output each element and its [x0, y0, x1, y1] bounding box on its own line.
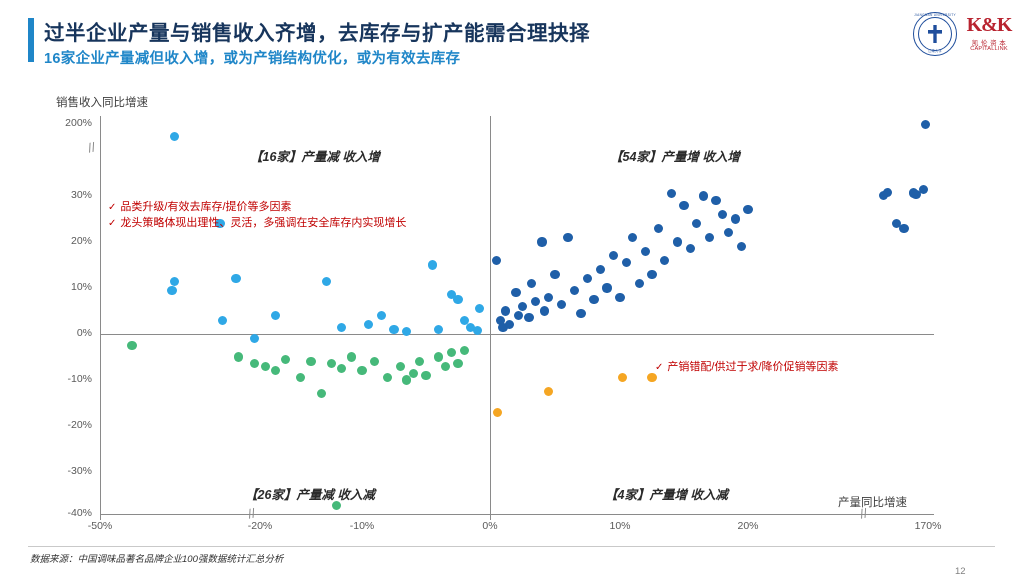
data-point	[337, 364, 346, 373]
note-lower-right: ✓产销错配/供过于求/降价促销等因素	[655, 358, 839, 374]
data-point	[531, 297, 540, 306]
check-icon: ✓	[108, 202, 116, 213]
data-point	[317, 389, 326, 398]
data-point	[615, 293, 624, 302]
y-tick-label: 10%	[46, 281, 92, 293]
data-point	[524, 313, 533, 322]
data-point	[357, 366, 366, 375]
x-tick-label: -10%	[332, 520, 392, 532]
data-point	[647, 270, 656, 279]
y-tick-label: 0%	[46, 327, 92, 339]
check-icon: ✓	[655, 362, 663, 373]
data-point	[428, 260, 437, 269]
data-point	[596, 265, 605, 274]
quadrant-label-q3: 【26家】产量减 收入减	[245, 484, 375, 503]
data-point	[628, 233, 637, 242]
data-point	[557, 300, 566, 309]
data-point	[337, 323, 346, 332]
x-tick-label: 0%	[460, 520, 520, 532]
x-axis-baseline	[100, 514, 934, 515]
quadrant-label-q2: 【16家】产量减 收入增	[250, 146, 380, 165]
data-point	[231, 274, 240, 283]
data-point	[641, 247, 650, 256]
y-tick-label: -10%	[46, 373, 92, 385]
data-point	[635, 279, 644, 288]
slide-header: 过半企业产量与销售收入齐增，去库存与扩产能需合理抉择 16家企业产量减但收入增，…	[0, 0, 1023, 72]
y-axis-break: //	[87, 139, 97, 155]
title-accent-bar	[28, 18, 34, 62]
data-point	[377, 311, 386, 320]
data-point	[250, 359, 259, 368]
data-point	[919, 185, 928, 194]
data-point	[550, 270, 559, 279]
y-axis-title: 销售收入同比增速	[56, 94, 148, 110]
data-point	[296, 373, 305, 382]
capital-link-logo: K&K CAPITALLINK 凯 伦 资 本	[964, 14, 1014, 60]
data-point	[879, 191, 888, 200]
data-point	[699, 191, 708, 200]
plot-area: //////【16家】产量减 收入增【54家】产量增 收入增【26家】产量减 收…	[100, 116, 938, 522]
x-tick-label: 10%	[590, 520, 650, 532]
data-point	[537, 237, 546, 246]
data-point	[692, 219, 701, 228]
x-axis-line	[100, 334, 934, 335]
data-point	[347, 352, 356, 361]
data-point	[544, 293, 553, 302]
data-point	[527, 279, 536, 288]
x-axis-break-right: //	[859, 505, 869, 521]
page-number: 12	[955, 566, 995, 577]
x-tick-label: 170%	[898, 520, 958, 532]
annotation-text: 产销错配/供过于求/降价促销等因素	[667, 361, 838, 373]
data-point	[271, 366, 280, 375]
x-tick-label: -50%	[70, 520, 130, 532]
data-point	[505, 320, 514, 329]
data-point	[281, 355, 290, 364]
annotation-text: 品类升级/有效去库存/提价等多因素	[120, 201, 291, 213]
data-point	[899, 224, 908, 233]
logo-mark: K&K	[964, 14, 1014, 37]
data-point	[737, 242, 746, 251]
data-point	[383, 373, 392, 382]
page-subtitle: 16家企业产量减但收入增，或为产销结构优化，或为有效去库存	[44, 47, 460, 68]
source-note: 数据来源：中国调味品著名品牌企业100强数据统计汇总分析	[30, 551, 283, 565]
logo-cn-text: 凯 伦 资 本	[964, 37, 1014, 47]
data-point	[705, 233, 714, 242]
y-tick-label: -40%	[46, 507, 92, 519]
data-point	[724, 228, 733, 237]
data-point	[743, 205, 752, 214]
data-point	[647, 373, 656, 382]
data-point	[415, 357, 424, 366]
data-point	[711, 196, 720, 205]
data-point	[167, 286, 176, 295]
y-tick-label: 30%	[46, 189, 92, 201]
data-point	[514, 311, 523, 320]
data-point	[570, 286, 579, 295]
data-point	[250, 334, 259, 343]
data-point	[654, 224, 663, 233]
data-point	[679, 201, 688, 210]
data-point	[370, 357, 379, 366]
data-point	[327, 359, 336, 368]
data-point	[453, 295, 462, 304]
quadrant-label-q4: 【4家】产量增 收入减	[605, 484, 728, 503]
data-point	[434, 352, 443, 361]
data-point	[234, 352, 243, 361]
data-point	[389, 325, 398, 334]
data-point	[475, 304, 484, 313]
data-point	[492, 256, 501, 265]
data-point	[218, 316, 227, 325]
note-upper-left-1: ✓品类升级/有效去库存/提价等多因素	[108, 198, 292, 214]
data-point	[306, 357, 315, 366]
data-point	[364, 320, 373, 329]
data-point	[921, 120, 930, 129]
data-point	[544, 387, 553, 396]
university-seal-logo: JIANGNAN UNIVERSITY 江南大学	[913, 12, 961, 60]
vertical-zero-line	[490, 116, 491, 520]
data-point	[909, 188, 918, 197]
scatter-chart: 销售收入同比增速 产量同比增速 //////【16家】产量减 收入增【54家】产…	[0, 80, 1023, 540]
y-tick-label: -30%	[46, 465, 92, 477]
data-point	[441, 362, 450, 371]
data-point	[731, 214, 740, 223]
data-point	[421, 371, 430, 380]
data-point	[718, 210, 727, 219]
data-point	[322, 277, 331, 286]
data-point	[447, 348, 456, 357]
data-point	[667, 189, 676, 198]
data-point	[409, 369, 418, 378]
note-upper-left-2: ✓龙头策略体现出理性、灵活，多强调在安全库存内实现增长	[108, 214, 406, 230]
data-point	[576, 309, 585, 318]
data-point	[501, 306, 510, 315]
data-point	[589, 295, 598, 304]
data-point	[170, 277, 179, 286]
data-point	[511, 288, 520, 297]
data-point	[673, 237, 682, 246]
data-point	[583, 274, 592, 283]
data-point	[271, 311, 280, 320]
data-point	[563, 233, 572, 242]
y-axis-line	[100, 116, 101, 520]
data-point	[261, 362, 270, 371]
data-point	[686, 244, 695, 253]
data-point	[453, 359, 462, 368]
data-point	[473, 326, 482, 335]
y-tick-label: -20%	[46, 419, 92, 431]
y-tick-label: 200%	[46, 117, 92, 129]
data-point	[493, 408, 502, 417]
annotation-text: 龙头策略体现出理性、灵活，多强调在安全库存内实现增长	[120, 217, 406, 229]
x-tick-label: -20%	[230, 520, 290, 532]
quadrant-label-q1: 【54家】产量增 收入增	[610, 146, 740, 165]
data-point	[460, 346, 469, 355]
seal-top-text: JIANGNAN UNIVERSITY	[913, 13, 957, 17]
data-point	[602, 283, 611, 292]
data-point	[127, 341, 136, 350]
data-point	[396, 362, 405, 371]
page-title: 过半企业产量与销售收入齐增，去库存与扩产能需合理抉择	[44, 16, 590, 46]
data-point	[434, 325, 443, 334]
data-point	[540, 306, 549, 315]
seal-bottom-text: 江南大学	[913, 48, 957, 53]
data-point	[622, 258, 631, 267]
data-point	[660, 256, 669, 265]
data-point	[170, 132, 179, 141]
x-tick-label: 20%	[718, 520, 778, 532]
data-point	[609, 251, 618, 260]
y-tick-label: 20%	[46, 235, 92, 247]
data-point	[518, 302, 527, 311]
data-point	[618, 373, 627, 382]
check-icon: ✓	[108, 218, 116, 229]
footer-divider	[28, 546, 995, 547]
